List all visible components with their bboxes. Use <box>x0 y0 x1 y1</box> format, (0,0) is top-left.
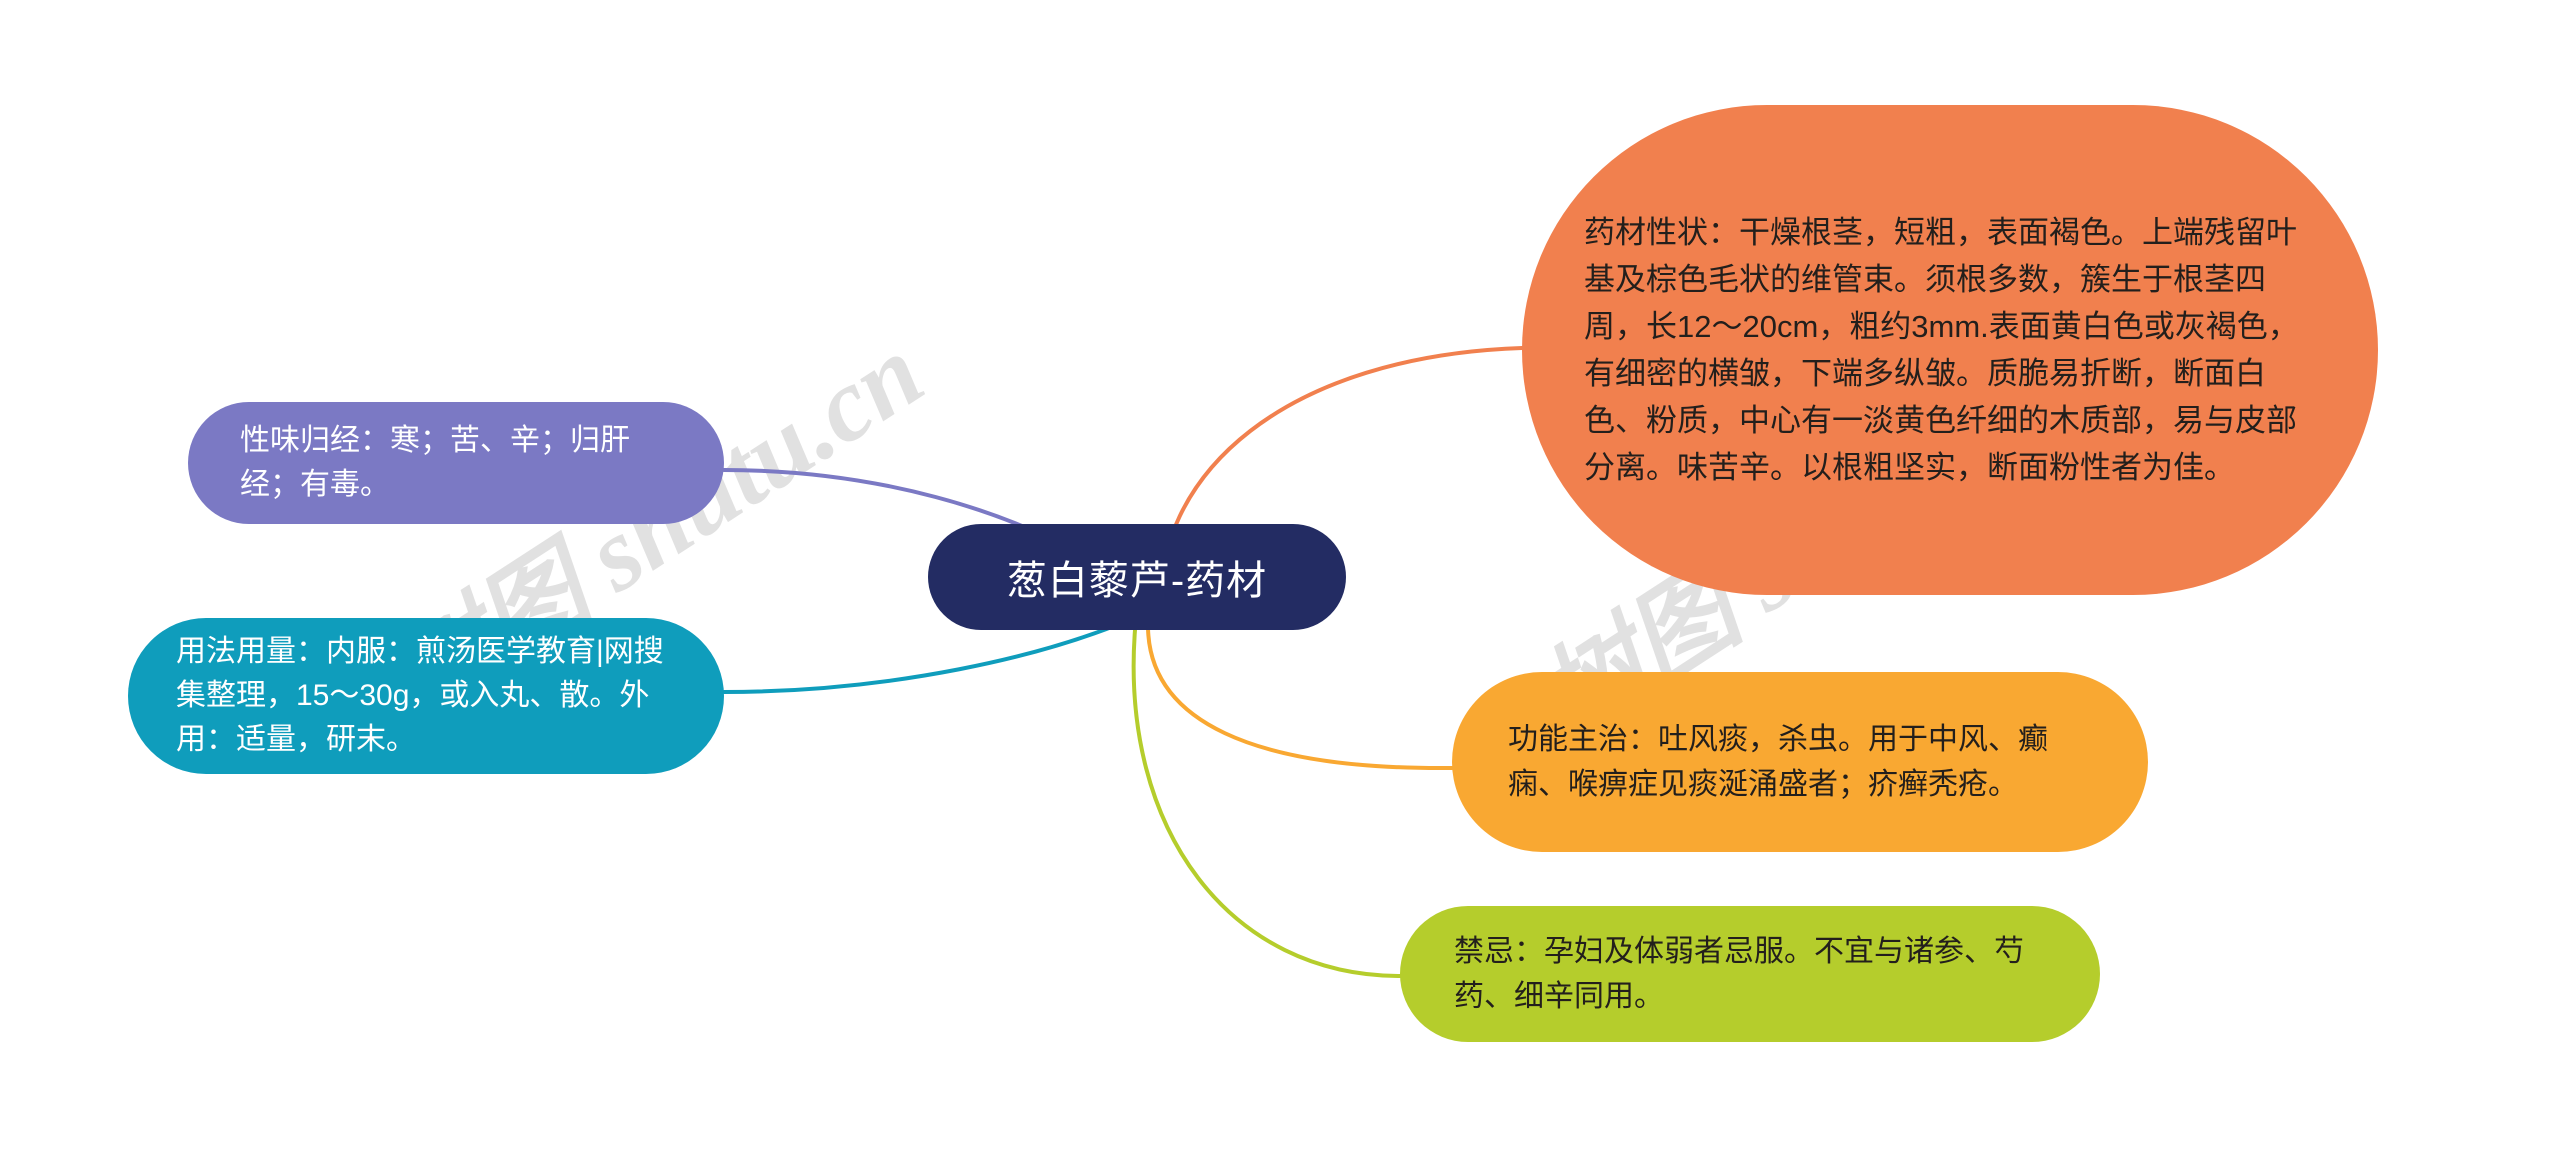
branch-node-description[interactable]: 药材性状：干燥根茎，短粗，表面褐色。上端残留叶基及棕色毛状的维管束。须根多数，簇… <box>1522 105 2378 595</box>
connector-contraindications <box>1134 630 1400 976</box>
root-node[interactable]: 葱白藜芦-药材 <box>928 524 1346 630</box>
branch-node-contraindications[interactable]: 禁忌：孕妇及体弱者忌服。不宜与诸参、芍药、细辛同用。 <box>1400 906 2100 1042</box>
connector-indications <box>1148 628 1452 768</box>
branch-node-indications[interactable]: 功能主治：吐风痰，杀虫。用于中风、癫痫、喉痹症见痰涎涌盛者；疥癣秃疮。 <box>1452 672 2148 852</box>
branch-node-properties[interactable]: 性味归经：寒；苦、辛；归肝经；有毒。 <box>188 402 724 524</box>
branch-node-dosage[interactable]: 用法用量：内服：煎汤医学教育|网搜集整理，15～30g，或入丸、散。外用：适量，… <box>128 618 724 774</box>
mindmap-canvas: 树图 shutu.cn 树图 shutu.cn 性味归经：寒；苦、辛；归肝经；有… <box>0 0 2560 1152</box>
